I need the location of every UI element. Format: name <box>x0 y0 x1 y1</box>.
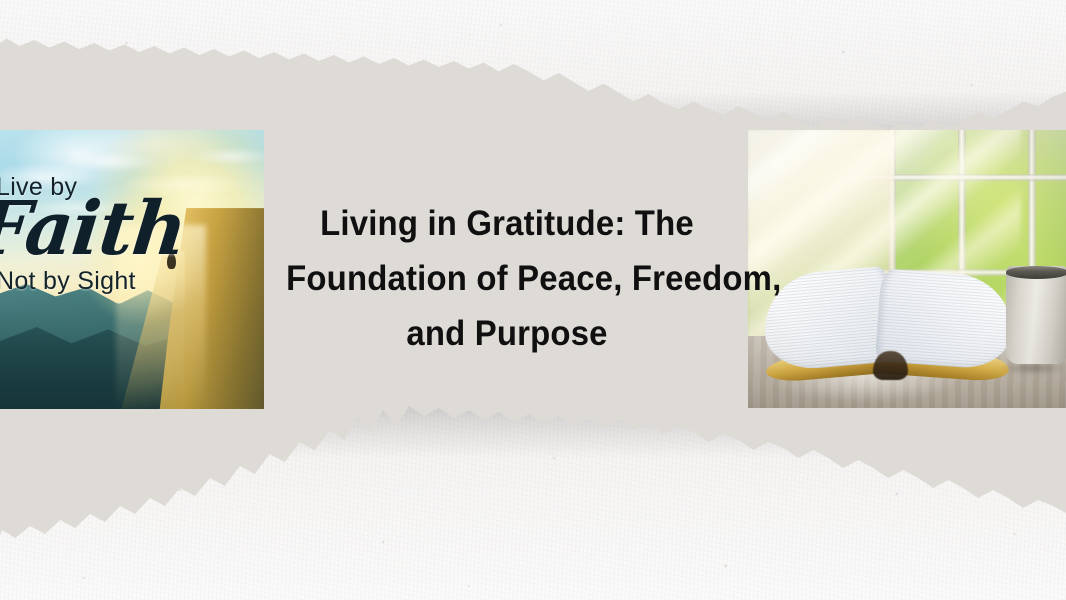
left-overlay-script-word: Faith <box>0 192 189 266</box>
banner-canvas: Live by Faith Not by Sight Living i <box>0 0 1066 600</box>
right-image-vignette <box>748 130 1066 408</box>
title-line-2: Foundation of Peace, Freedom, <box>286 251 728 306</box>
right-bible-image <box>748 130 1066 408</box>
left-faith-image: Live by Faith Not by Sight <box>0 130 264 409</box>
left-image-overlay-text: Live by Faith Not by Sight <box>0 130 264 409</box>
title-line-3: and Purpose <box>286 306 728 361</box>
title-line-1: Living in Gratitude: The <box>286 196 728 251</box>
banner-title: Living in Gratitude: The Foundation of P… <box>272 196 742 361</box>
left-overlay-line-3: Not by Sight <box>0 267 136 296</box>
